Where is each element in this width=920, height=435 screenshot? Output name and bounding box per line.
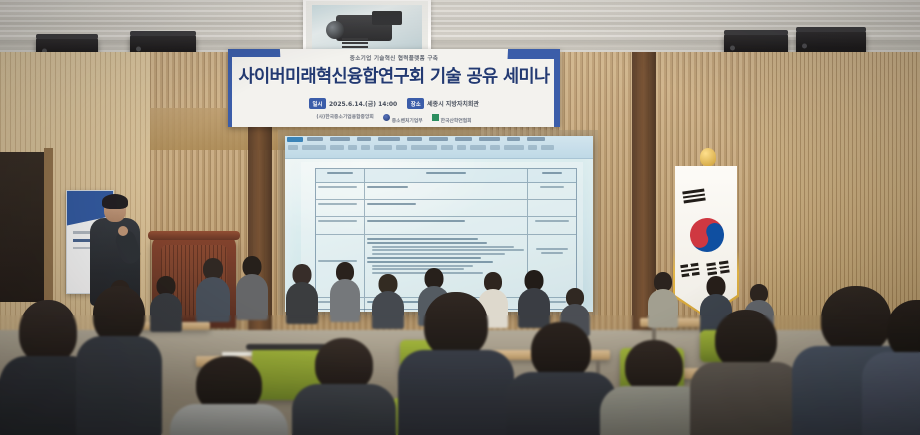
- audience-head: [19, 300, 77, 364]
- audience-member: [648, 272, 678, 326]
- banner-footer-row: (사)한국중소기업융합중앙회 중소벤처기업부 한국산학연협회: [228, 107, 560, 126]
- audience-body: [286, 282, 318, 324]
- banner-supra-text: 중소기업 기술혁신 협력플랫폼 구축: [228, 54, 560, 62]
- audience-body: [236, 274, 268, 320]
- projector-icon: [303, 0, 431, 56]
- banner-host-text: (사)한국중소기업융합중앙회: [316, 113, 373, 120]
- banner-sponsor-1-group: 중소벤처기업부: [383, 107, 423, 126]
- event-banner: 중소기업 기술혁신 협력플랫폼 구축 사이버미래혁신융합연구회 기술 공유 세미…: [228, 49, 560, 127]
- table-header-cell-detail: [365, 169, 528, 182]
- seminar-room-photo: 중소기업 기술혁신 협력플랫폼 구축 사이버미래혁신융합연구회 기술 공유 세미…: [0, 0, 920, 435]
- projector-mount: [372, 11, 402, 25]
- table-row: [316, 200, 576, 217]
- audience-head: [424, 292, 488, 358]
- app-ribbon: [285, 136, 593, 159]
- door-frame: [44, 148, 53, 306]
- audience-member: [330, 262, 360, 320]
- audience-member: [286, 264, 318, 322]
- presenter-hand: [118, 226, 128, 236]
- audience-member-foreground: [170, 356, 288, 435]
- audience-body: [196, 277, 230, 322]
- ribbon-toolbar-row: [288, 145, 590, 150]
- audience-member-foreground: [76, 286, 162, 435]
- lectern-top: [148, 231, 240, 240]
- banner-sponsor-2: 한국산학연협회: [441, 119, 472, 124]
- table-header-cell-note: [528, 169, 576, 182]
- audience-member: [236, 256, 268, 318]
- projector-housing-interior: [312, 5, 422, 50]
- audience-body: [398, 350, 514, 435]
- audience-member: [518, 270, 550, 326]
- audience-body: [76, 336, 162, 435]
- projector-lens-icon: [326, 21, 344, 39]
- audience-member-foreground: [292, 338, 396, 435]
- audience-body: [690, 362, 802, 435]
- audience-body: [292, 384, 396, 435]
- flag-finial-icon: [700, 148, 716, 166]
- audience-member-foreground: [690, 310, 802, 435]
- audience-head: [715, 310, 777, 370]
- banner-sponsor-1: 중소벤처기업부: [392, 119, 423, 124]
- audience-body: [170, 404, 288, 435]
- side-door[interactable]: [0, 152, 48, 302]
- presenter-hair: [102, 194, 128, 209]
- table-row: [316, 183, 576, 200]
- audience-body: [648, 289, 678, 328]
- audience-member: [196, 258, 230, 320]
- table-row: [316, 217, 576, 235]
- table-header-row: [316, 169, 576, 183]
- trigram-geon-icon: [682, 189, 705, 204]
- audience-member-foreground: [862, 300, 920, 435]
- trigram-gon-icon: [706, 261, 729, 276]
- ribbon-menu-row: [307, 137, 545, 141]
- audience-member-foreground: [398, 292, 514, 435]
- audience-body: [330, 279, 360, 322]
- sponsor-logo-icon-1: [383, 114, 390, 121]
- audience-head: [887, 300, 920, 360]
- sponsor-logo-icon-2: [432, 114, 439, 121]
- ribbon-active-tab: [287, 137, 303, 142]
- trigram-gam-icon: [680, 263, 699, 277]
- audience-body: [862, 352, 920, 435]
- banner-sponsor-2-group: 한국산학연협회: [432, 107, 472, 126]
- table-header-cell-time: [316, 169, 365, 182]
- banner-title: 사이버미래혁신융합연구회 기술 공유 세미나: [228, 63, 560, 88]
